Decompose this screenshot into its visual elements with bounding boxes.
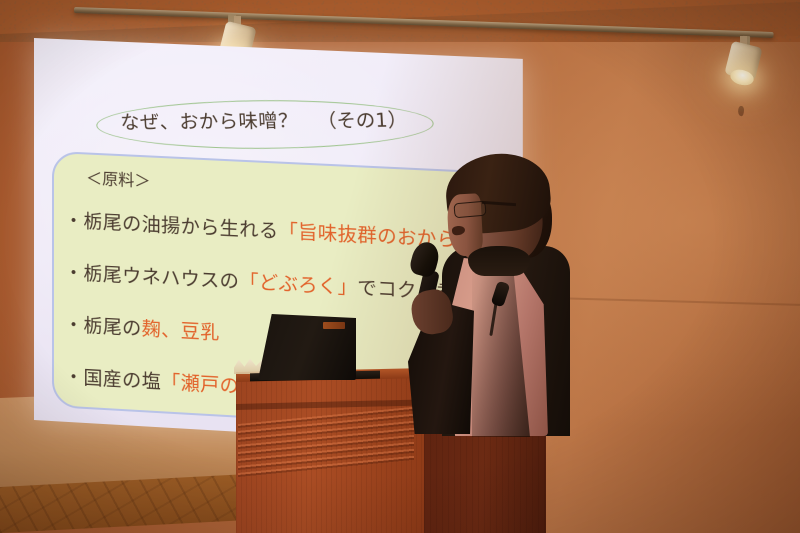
presentation-room-photo: なぜ、おから味噌？ （その1） ＜原料＞ ・栃尾の油揚から生れる「旨味抜群のおか… bbox=[0, 0, 800, 533]
laptop-badge bbox=[323, 322, 345, 329]
presenter-collar bbox=[468, 246, 530, 276]
presenter bbox=[396, 150, 586, 430]
